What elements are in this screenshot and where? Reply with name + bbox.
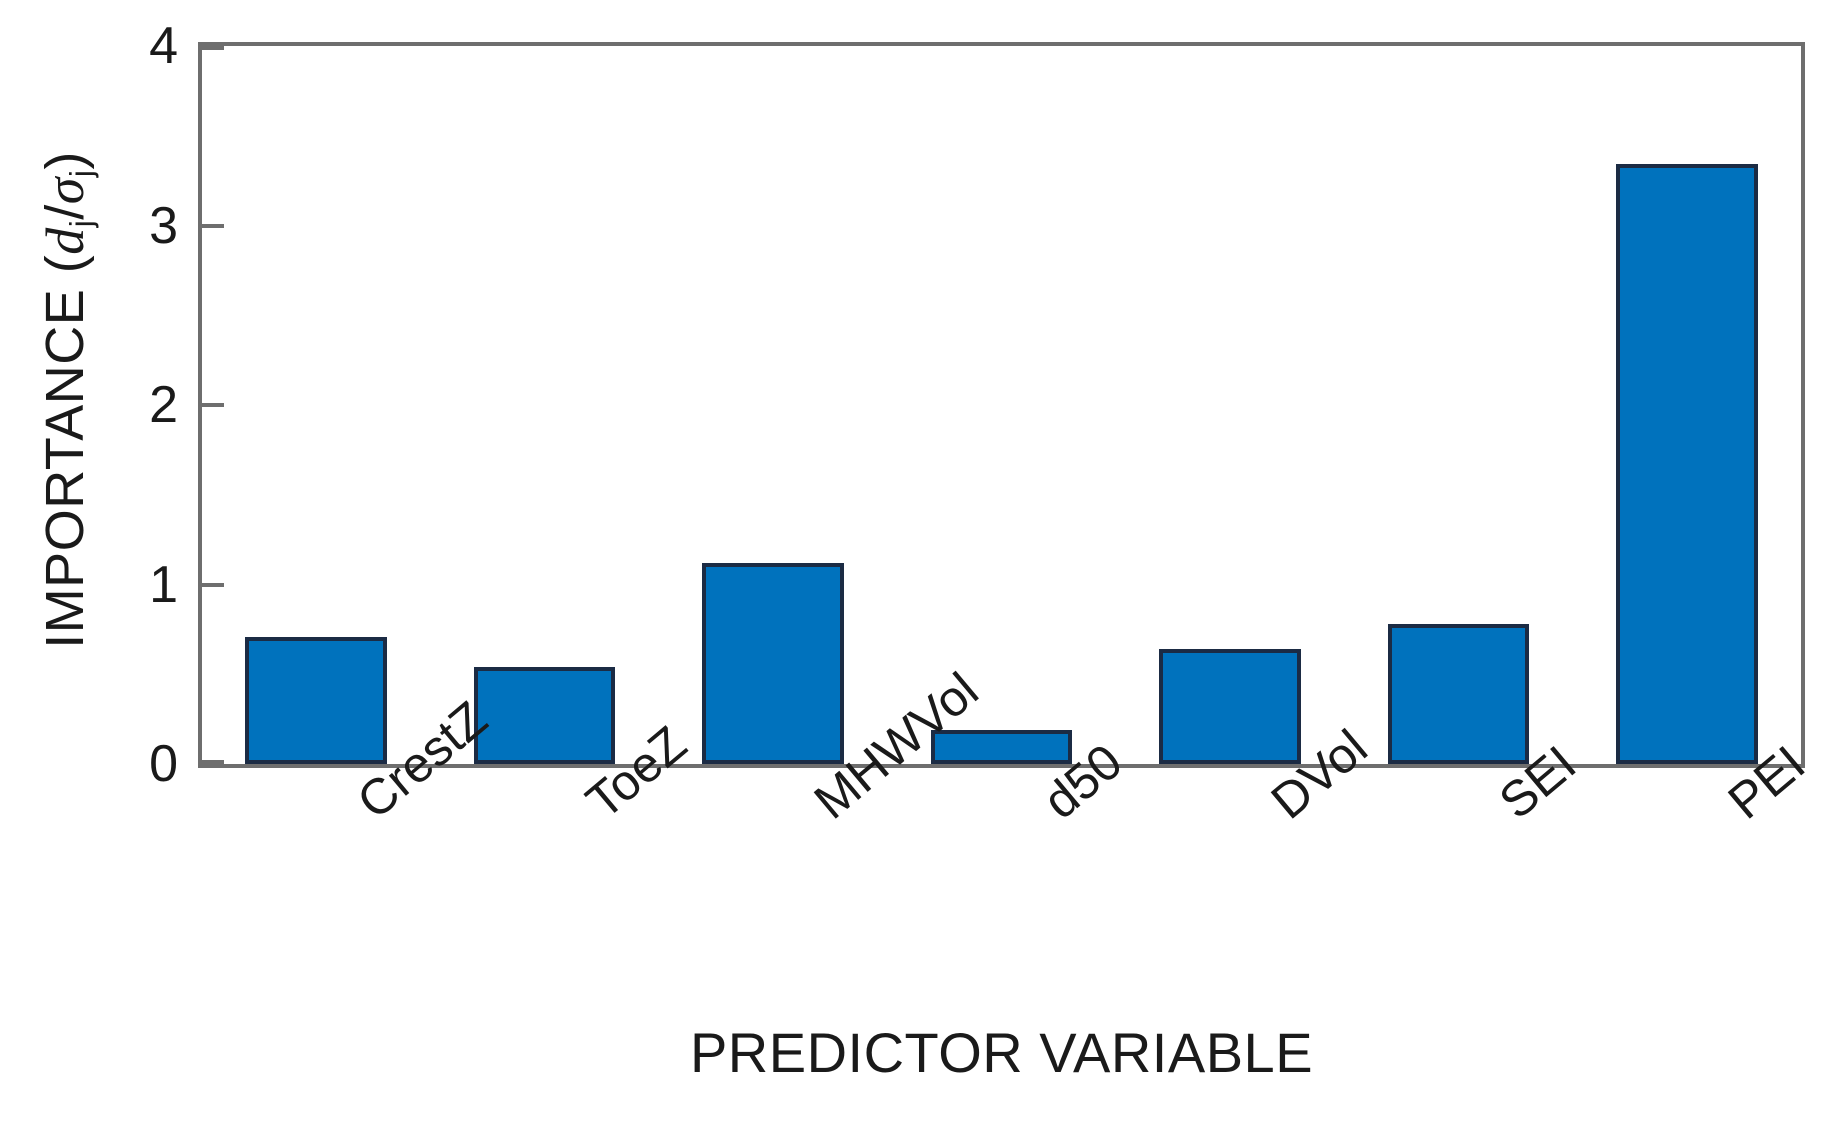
x-axis-tick-label: d50	[1032, 786, 1069, 830]
x-axis-title: PREDICTOR VARIABLE	[198, 1020, 1805, 1085]
y-axis-tick-mark	[202, 403, 224, 407]
bar	[1388, 624, 1530, 764]
y-axis-tick-label: 2	[28, 379, 178, 431]
x-axis-tick-label: DVol	[1260, 786, 1297, 830]
bar	[474, 667, 616, 764]
y-axis-title-denominator-subscript: j	[64, 170, 100, 177]
x-axis-tick-label: PEI	[1717, 786, 1754, 830]
bar	[702, 563, 844, 764]
y-axis-tick-mark	[202, 583, 224, 587]
x-axis-tick-label: MHWVol	[803, 786, 840, 830]
plot-inner	[202, 46, 1801, 764]
y-axis-title-suffix: )	[34, 151, 96, 169]
chart-page: IMPORTANCE (dj/σj) 01234 CrestZToeZMHWVo…	[0, 0, 1830, 1135]
plot-area	[198, 42, 1805, 768]
x-axis-tick-label: ToeZ	[575, 786, 612, 830]
bar	[1159, 649, 1301, 764]
y-axis-tick-label: 0	[28, 738, 178, 790]
y-axis-tick-mark	[202, 224, 224, 228]
bar	[245, 637, 387, 764]
x-axis-tick-label: CrestZ	[346, 786, 383, 830]
y-axis-tick-mark	[202, 46, 224, 50]
x-axis-tick-label: SEI	[1488, 786, 1525, 830]
y-axis-tick-label: 4	[28, 20, 178, 72]
y-axis-tick-label: 3	[28, 200, 178, 252]
y-axis-tick-label: 1	[28, 559, 178, 611]
y-axis-tick-mark	[202, 760, 224, 764]
bar	[1616, 164, 1758, 764]
